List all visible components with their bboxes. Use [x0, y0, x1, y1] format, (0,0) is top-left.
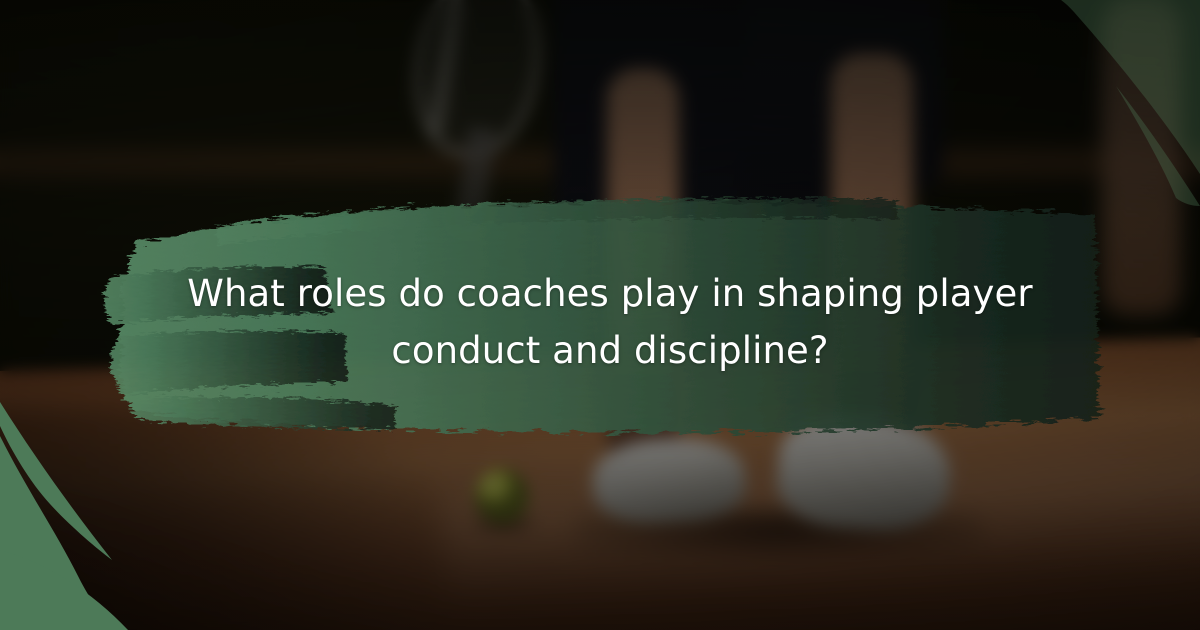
page-title: What roles do coaches play in shaping pl… — [150, 265, 1070, 380]
question-card: What roles do coaches play in shaping pl… — [0, 0, 1200, 630]
